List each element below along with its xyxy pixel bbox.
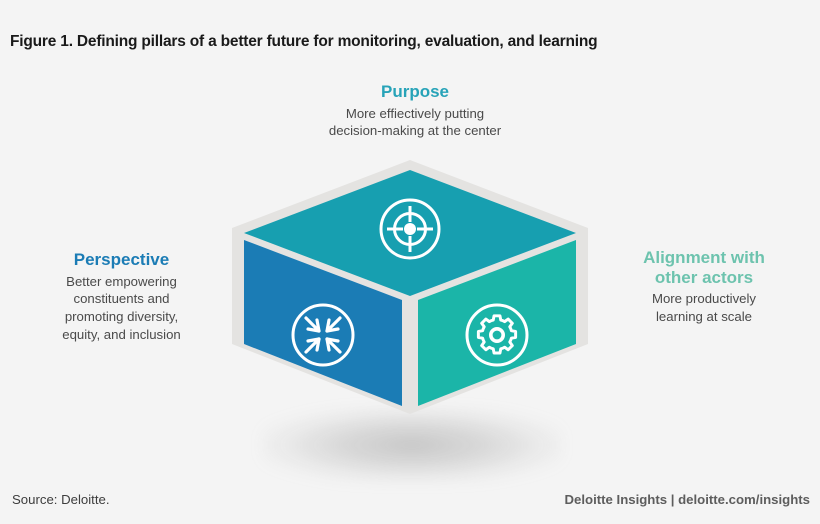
isometric-cube <box>230 158 590 418</box>
callout-alignment-heading-line: Alignment with <box>598 248 810 268</box>
callout-purpose-heading: Purpose <box>265 82 565 103</box>
callout-alignment-body-line: More productively <box>598 290 810 308</box>
callout-perspective-body-line: Better empowering <box>14 273 229 291</box>
callout-perspective: Perspective Better empowering constituen… <box>14 250 229 343</box>
callout-alignment: Alignment with other actors More product… <box>598 248 810 325</box>
target-crosshair-icon <box>381 200 439 258</box>
callout-alignment-heading: Alignment with other actors <box>598 248 810 288</box>
callout-perspective-heading: Perspective <box>14 250 229 271</box>
footer-source: Source: Deloitte. <box>12 492 110 507</box>
callout-alignment-body-line: learning at scale <box>598 308 810 326</box>
callout-alignment-heading-line: other actors <box>598 268 810 288</box>
callout-perspective-body-line: equity, and inclusion <box>14 326 229 344</box>
footer-brand: Deloitte Insights | deloitte.com/insight… <box>565 492 810 507</box>
callout-perspective-body-line: promoting diversity, <box>14 308 229 326</box>
callout-purpose-body-line: decision-making at the center <box>265 122 565 140</box>
diagram-stage: Purpose More effiectively putting decisi… <box>0 0 820 524</box>
callout-purpose: Purpose More effiectively putting decisi… <box>265 82 565 140</box>
callout-purpose-body-line: More effiectively putting <box>265 105 565 123</box>
callout-purpose-body: More effiectively putting decision-makin… <box>265 105 565 140</box>
callout-alignment-body: More productively learning at scale <box>598 290 810 325</box>
callout-perspective-body-line: constituents and <box>14 290 229 308</box>
callout-perspective-body: Better empowering constituents and promo… <box>14 273 229 344</box>
